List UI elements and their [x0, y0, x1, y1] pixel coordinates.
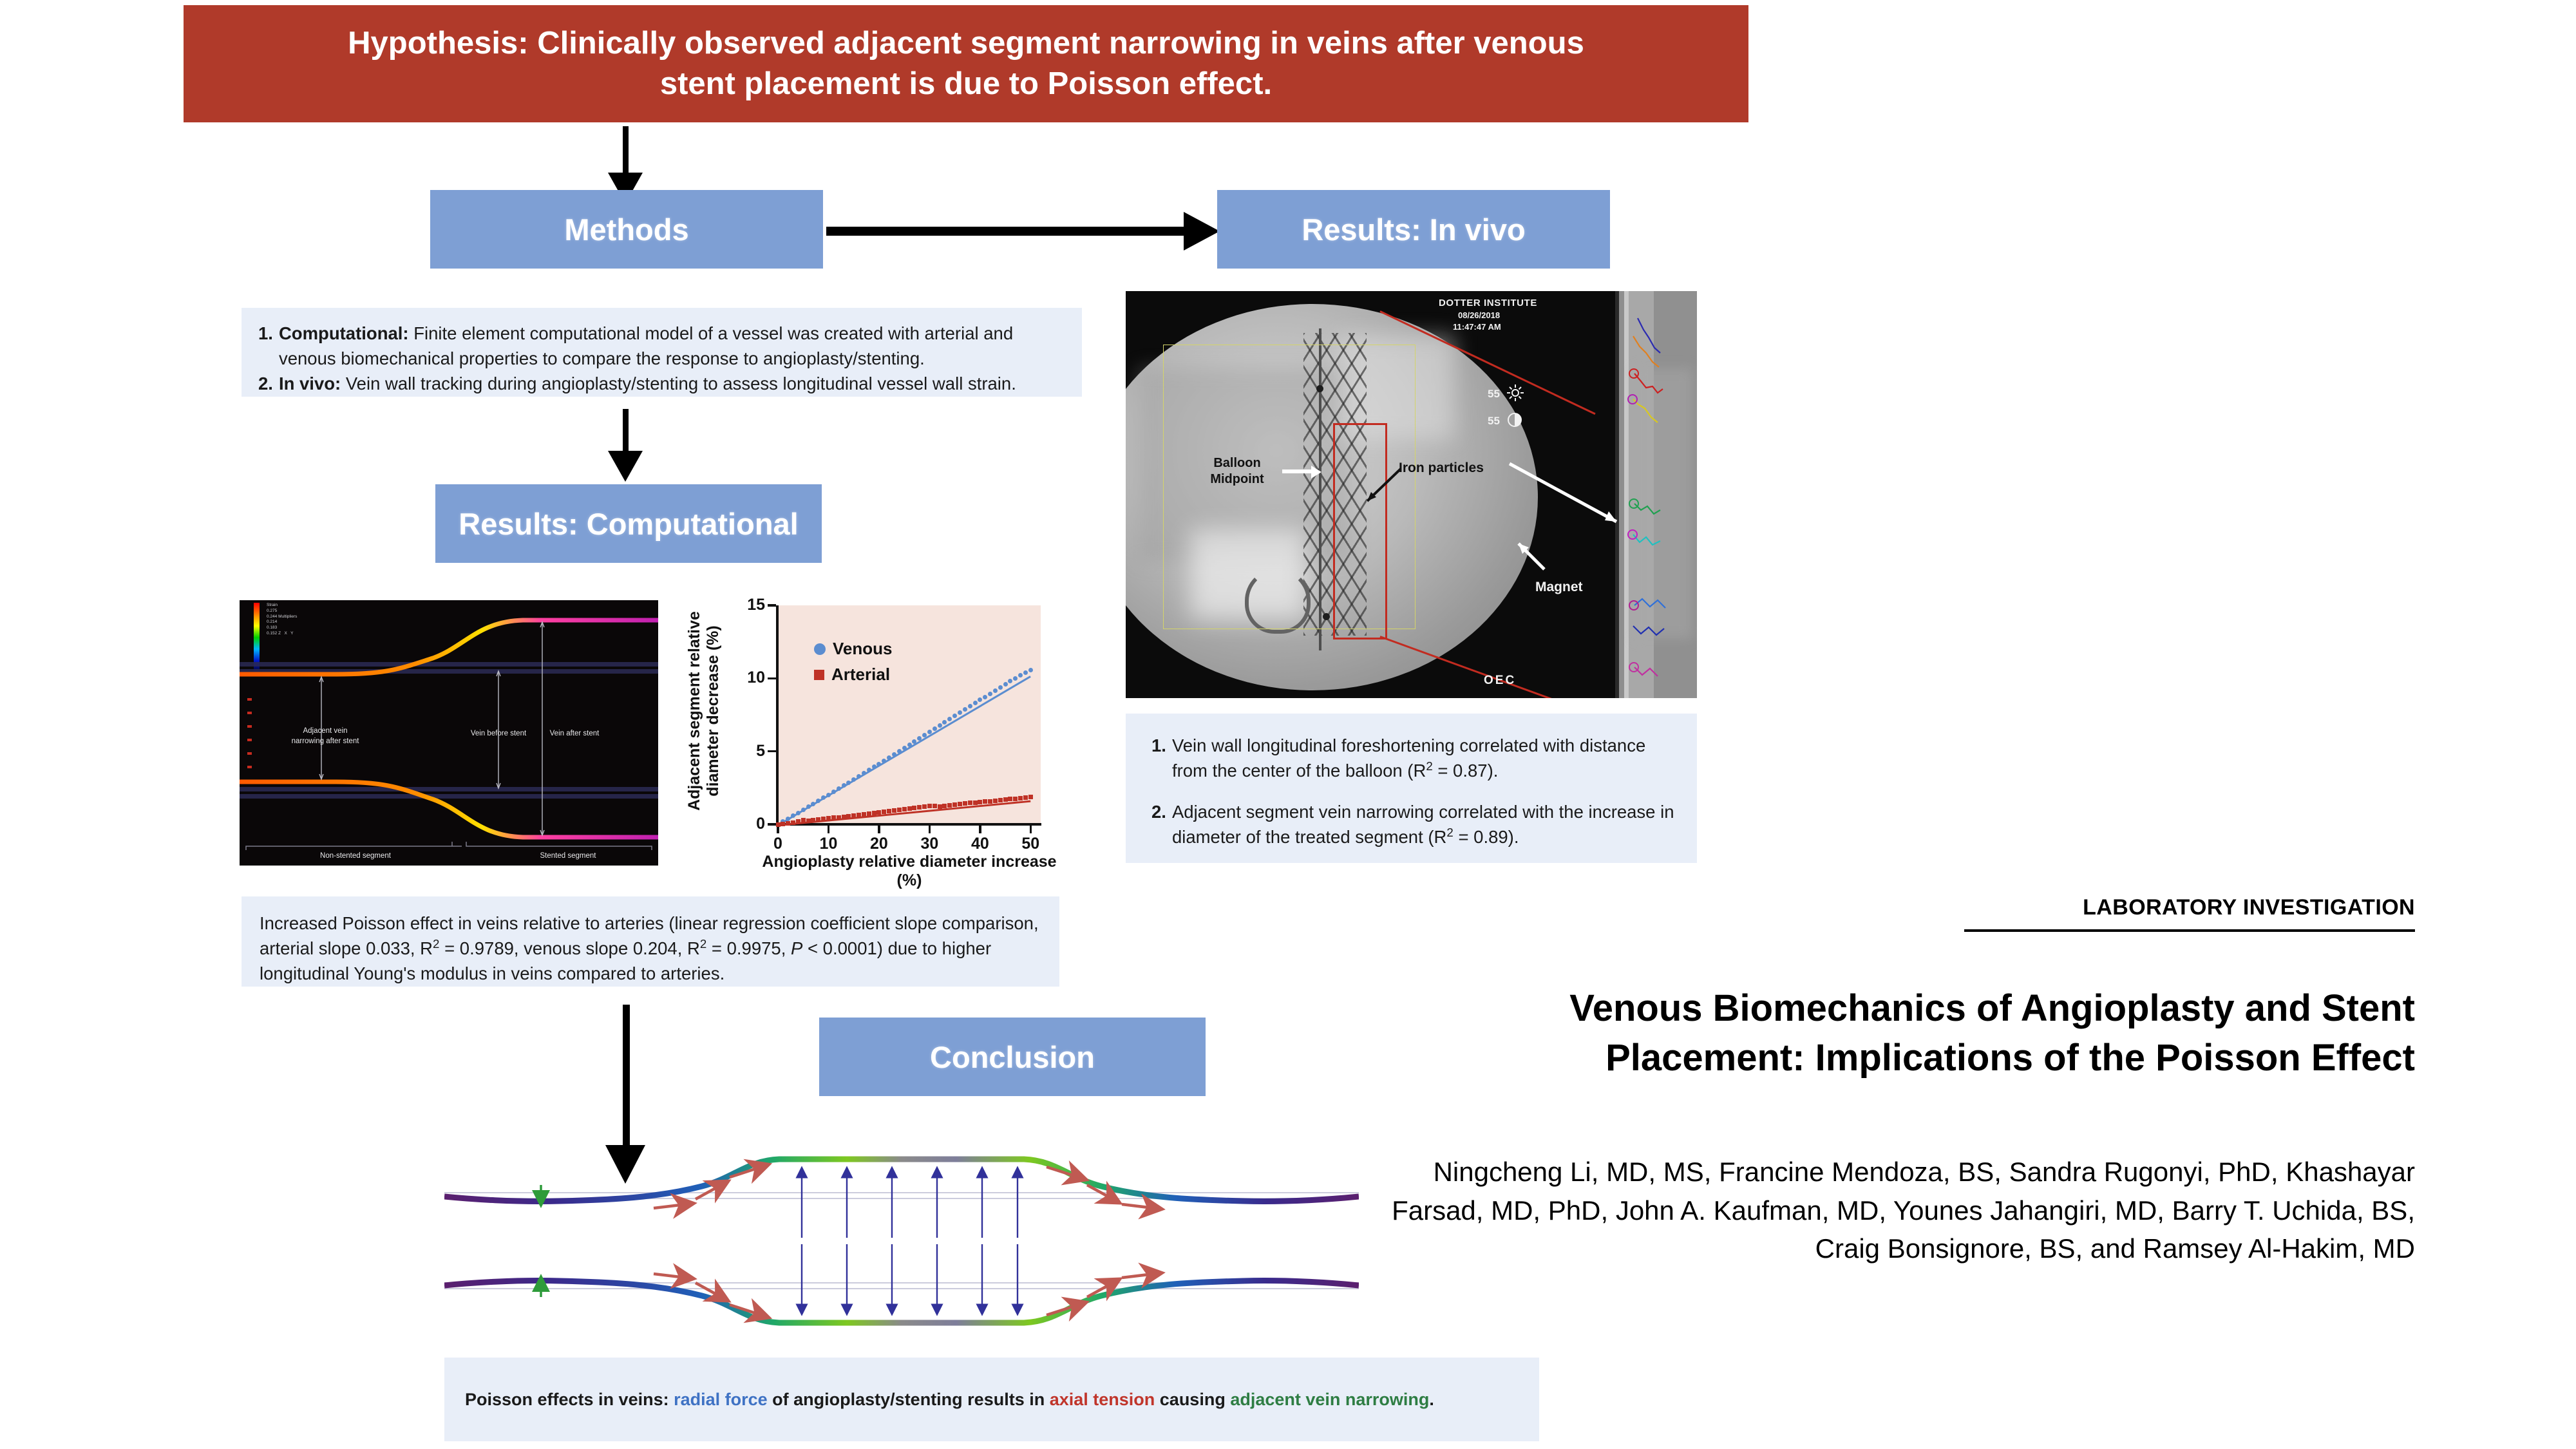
chart-point-venous — [973, 701, 978, 705]
chart-point-arterial — [922, 804, 927, 809]
fea-simulation-image: Strain 0.275 0.244 Multipliers 0.214 0.1… — [240, 600, 658, 866]
fea-label-non-stented-segment: Non-stented segment — [314, 851, 397, 862]
methods-panel: 1. Computational: Finite element computa… — [241, 308, 1082, 397]
legend-marker-square-icon — [814, 670, 824, 680]
article-authors: Ningcheng Li, MD, MS, Francine Mendoza, … — [1391, 1153, 2415, 1268]
concl-adjacent-narrowing: adjacent vein narrowing — [1230, 1390, 1429, 1409]
chart-point-venous — [842, 783, 846, 788]
chart-point-arterial — [1023, 795, 1028, 800]
chart-point-arterial — [912, 806, 916, 810]
chart-point-arterial — [811, 818, 815, 822]
chart-x-axis — [776, 823, 1041, 826]
chart-point-arterial — [942, 804, 947, 808]
chart-point-arterial — [897, 808, 902, 812]
stage-box-results-computational: Results: Computational — [435, 484, 822, 563]
hypothesis-text: Hypothesis: Clinically observed adjacent… — [319, 23, 1613, 104]
chart-point-venous — [882, 759, 886, 763]
concl-lead: Poisson effects in veins: — [465, 1390, 674, 1409]
chart-point-arterial — [933, 804, 937, 808]
chart-point-arterial — [806, 819, 811, 823]
fea-label-stented-segment: Stented segment — [526, 851, 610, 862]
chart-x-tick-label: 0 — [759, 835, 797, 853]
chart-y-axis — [776, 605, 779, 826]
chart-point-arterial — [882, 810, 886, 814]
chart-point-arterial — [963, 801, 967, 806]
journal-section-rule — [1964, 929, 2415, 932]
vessel-deformation-svg — [444, 1154, 1359, 1347]
chart-point-arterial — [952, 802, 957, 807]
concl-mid-1: of angioplasty/stenting results in — [768, 1390, 1050, 1409]
chart-point-arterial — [831, 815, 836, 820]
chart-point-venous — [887, 755, 891, 760]
chart-point-venous — [831, 790, 836, 794]
arrow-methods-to-computational-head — [608, 451, 643, 482]
annotation-iron-particles: Iron particles — [1399, 460, 1484, 476]
fluoroscopy-image: DOTTER INSTITUTE 08/26/2018 11:47:47 AM … — [1126, 291, 1697, 698]
stage-box-methods: Methods — [430, 190, 823, 269]
arrow-hypothesis-to-methods-shaft — [623, 126, 629, 176]
fea-label-vein-after-stent: Vein after stent — [542, 729, 607, 739]
methods-item-2: 2. In vivo: Vein wall tracking during an… — [258, 371, 1065, 396]
stage-label-results-computational: Results: Computational — [459, 506, 798, 542]
chart-point-venous — [801, 808, 806, 812]
chart-point-arterial — [842, 815, 846, 819]
chart-point-arterial — [776, 822, 781, 827]
chart-y-tick-label: 10 — [726, 668, 765, 687]
chart-point-arterial — [938, 804, 942, 809]
chart-y-tick — [768, 750, 776, 753]
fluoro-contrast-value: 55 — [1488, 415, 1500, 428]
chart-point-venous — [846, 781, 851, 785]
fluoro-institution-label: DOTTER INSTITUTE — [1439, 298, 1537, 308]
concl-radial-force: radial force — [674, 1390, 768, 1409]
methods-item-1: 1. Computational: Finite element computa… — [258, 321, 1065, 371]
article-title: Venous Biomechanics of Angioplasty and S… — [1558, 984, 2415, 1083]
chart-point-arterial — [998, 798, 1003, 802]
legend-label-venous: Venous — [833, 639, 892, 659]
chart-point-arterial — [1008, 797, 1012, 801]
chart-point-arterial — [796, 819, 800, 824]
chart-point-arterial — [1018, 796, 1023, 800]
chart-y-tick — [768, 677, 776, 680]
concl-mid-2: causing — [1155, 1390, 1230, 1409]
chart-point-arterial — [978, 800, 982, 804]
computational-results-panel: Increased Poisson effect in veins relati… — [241, 896, 1059, 987]
chart-point-venous — [862, 771, 866, 775]
chart-point-arterial — [1003, 797, 1008, 802]
methods-item-2-text: Vein wall tracking during angioplasty/st… — [341, 374, 1016, 393]
chart-point-arterial — [947, 803, 952, 808]
chart-point-arterial — [846, 814, 851, 819]
chart-x-tick — [777, 826, 779, 833]
chart-point-venous — [872, 764, 876, 769]
chart-point-arterial — [917, 805, 922, 810]
balloon-arrow-shaft — [1282, 469, 1313, 473]
chart-x-tick — [828, 826, 830, 833]
chart-point-arterial — [902, 807, 907, 811]
chart-point-venous — [826, 793, 831, 797]
chart-point-arterial — [872, 811, 876, 815]
chart-point-venous — [1003, 682, 1008, 687]
chart-point-arterial — [876, 810, 881, 815]
comp-sup-1: 2 — [433, 937, 439, 951]
chart-plot-area — [778, 605, 1041, 824]
chart-point-arterial — [821, 817, 826, 821]
chart-point-arterial — [816, 817, 820, 822]
methods-item-2-label: In vivo: — [279, 374, 341, 393]
chart-point-arterial — [851, 813, 856, 818]
regression-scatter-chart: 05101501020304050 Adjacent segment relat… — [665, 580, 1064, 869]
fluoro-vendor-label: OEC — [1484, 674, 1516, 688]
comp-p-value-symbol: P — [791, 938, 802, 958]
chart-x-tick-label: 30 — [910, 835, 949, 853]
chart-point-arterial — [867, 811, 871, 816]
methods-item-1-number: 1. — [258, 321, 273, 371]
chart-point-arterial — [993, 799, 998, 803]
journal-section-header: LABORATORY INVESTIGATION — [1964, 895, 2415, 932]
chart-y-tick-label: 0 — [726, 815, 765, 833]
strip-pointer-arrow — [1506, 460, 1628, 531]
iron-particles-arrow — [1354, 465, 1406, 510]
chart-point-arterial — [826, 816, 831, 820]
methods-item-2-number: 2. — [258, 371, 273, 396]
arrow-methods-to-invivo-head — [1184, 212, 1220, 251]
annotation-balloon-midpoint: Balloon Midpoint — [1202, 455, 1273, 488]
chart-point-arterial — [958, 802, 962, 806]
chart-x-tick-label: 50 — [1011, 835, 1050, 853]
concl-axial-tension: axial tension — [1050, 1390, 1155, 1409]
chart-point-arterial — [791, 820, 795, 825]
invivo-results-panel: 1. Vein wall longitudinal foreshortening… — [1126, 714, 1697, 863]
fluoro-date-label: 08/26/2018 — [1458, 310, 1500, 320]
stage-box-results-invivo: Results: In vivo — [1217, 190, 1610, 269]
stage-box-conclusion: Conclusion — [819, 1018, 1206, 1096]
chart-point-arterial — [837, 815, 841, 820]
legend-marker-circle-icon — [814, 643, 826, 655]
invivo-item-2-number: 2. — [1151, 799, 1166, 849]
chart-point-venous — [837, 786, 841, 791]
invivo-item-1-text-post: = 0.87). — [1433, 761, 1499, 781]
chart-point-arterial — [927, 804, 932, 808]
invivo-item-1-sup: 2 — [1426, 759, 1432, 773]
chart-point-arterial — [857, 813, 861, 817]
chart-point-venous — [857, 774, 861, 779]
chart-y-tick-label: 15 — [726, 596, 765, 614]
conclusion-caption-panel: Poisson effects in veins: radial force o… — [444, 1358, 1539, 1441]
chart-x-tick-label: 20 — [860, 835, 898, 853]
chart-y-tick — [768, 604, 776, 607]
journal-section-label: LABORATORY INVESTIGATION — [1964, 895, 2415, 920]
poisson-effect-diagram — [444, 1154, 1359, 1347]
chart-point-venous — [806, 804, 811, 809]
chart-point-venous — [851, 777, 856, 782]
fea-label-vein-before-stent: Vein before stent — [466, 729, 531, 739]
roi-red-box — [1333, 423, 1387, 639]
chart-x-tick-label: 10 — [809, 835, 848, 853]
chart-point-venous — [968, 704, 972, 708]
chart-point-arterial — [862, 812, 866, 817]
chart-point-arterial — [983, 799, 987, 804]
chart-x-axis-label: Angioplasty relative diameter increase (… — [761, 853, 1057, 890]
legend-entry-arterial: Arterial — [814, 665, 892, 685]
chart-y-tick-label: 5 — [726, 742, 765, 761]
chart-point-arterial — [781, 822, 785, 826]
chart-point-venous — [892, 752, 896, 757]
invivo-item-1-number: 1. — [1151, 733, 1166, 783]
fea-label-adjacent-narrowing: Adjacent vein narrowing after stent — [290, 726, 361, 746]
magnet-arrow — [1512, 541, 1557, 586]
chart-point-venous — [983, 695, 987, 699]
invivo-item-2: 2. Adjacent segment vein narrowing corre… — [1151, 799, 1675, 849]
chart-point-venous — [933, 726, 937, 731]
chart-point-venous — [907, 743, 912, 747]
concl-end: . — [1429, 1390, 1434, 1409]
chart-y-axis-label: Adjacent segment relative diameter decre… — [685, 598, 723, 824]
chart-point-arterial — [1028, 795, 1033, 799]
stage-label-methods: Methods — [564, 212, 688, 247]
contrast-icon — [1507, 412, 1522, 428]
legend-entry-venous: Venous — [814, 639, 892, 659]
chart-legend: Venous Arterial — [814, 639, 892, 690]
fluoro-time-label: 11:47:47 AM — [1453, 322, 1501, 332]
chart-point-arterial — [892, 808, 896, 813]
brightness-icon — [1506, 383, 1525, 402]
arrow-to-conclusion-shaft — [623, 1005, 630, 1153]
chart-x-tick-label: 40 — [961, 835, 999, 853]
chart-point-venous — [897, 749, 902, 753]
chart-x-tick — [929, 826, 931, 833]
chart-point-arterial — [887, 809, 891, 813]
chart-point-venous — [867, 768, 871, 772]
stage-label-conclusion: Conclusion — [930, 1039, 1095, 1075]
chart-point-arterial — [988, 799, 992, 804]
chart-point-arterial — [1013, 797, 1018, 801]
chart-y-tick — [768, 823, 776, 826]
chart-point-venous — [1023, 670, 1028, 675]
chart-point-venous — [902, 746, 907, 750]
stage-label-results-invivo: Results: In vivo — [1302, 212, 1525, 247]
chart-point-arterial — [801, 818, 806, 822]
chart-x-tick — [878, 826, 880, 833]
comp-text-seg3: = 0.9975, — [706, 938, 791, 958]
invivo-item-1-text-pre: Vein wall longitudinal foreshortening co… — [1172, 735, 1645, 781]
balloon-arrow-head — [1311, 466, 1321, 478]
hypothesis-banner: Hypothesis: Clinically observed adjacent… — [184, 5, 1748, 122]
comp-text-seg2: = 0.9789, venous slope 0.204, R — [439, 938, 699, 958]
legend-label-arterial: Arterial — [831, 665, 890, 685]
chart-x-tick — [979, 826, 981, 833]
chart-point-arterial — [973, 800, 978, 805]
invivo-item-2-sup: 2 — [1446, 826, 1453, 839]
chart-x-tick — [1030, 826, 1032, 833]
methods-item-1-label: Computational: — [279, 323, 409, 343]
comp-sup-2: 2 — [700, 937, 706, 951]
chart-point-venous — [796, 811, 800, 815]
invivo-item-1: 1. Vein wall longitudinal foreshortening… — [1151, 733, 1675, 783]
fluoro-brightness-value: 55 — [1488, 388, 1500, 401]
chart-point-venous — [938, 723, 942, 728]
arrow-methods-to-computational-shaft — [623, 409, 629, 454]
chart-point-arterial — [968, 800, 972, 805]
invivo-item-2-text-pre: Adjacent segment vein narrowing correlat… — [1172, 802, 1674, 847]
arrow-methods-to-invivo-shaft — [826, 227, 1187, 236]
chart-point-arterial — [907, 806, 912, 811]
invivo-item-2-text-post: = 0.89). — [1454, 827, 1519, 847]
chart-point-arterial — [786, 821, 790, 826]
